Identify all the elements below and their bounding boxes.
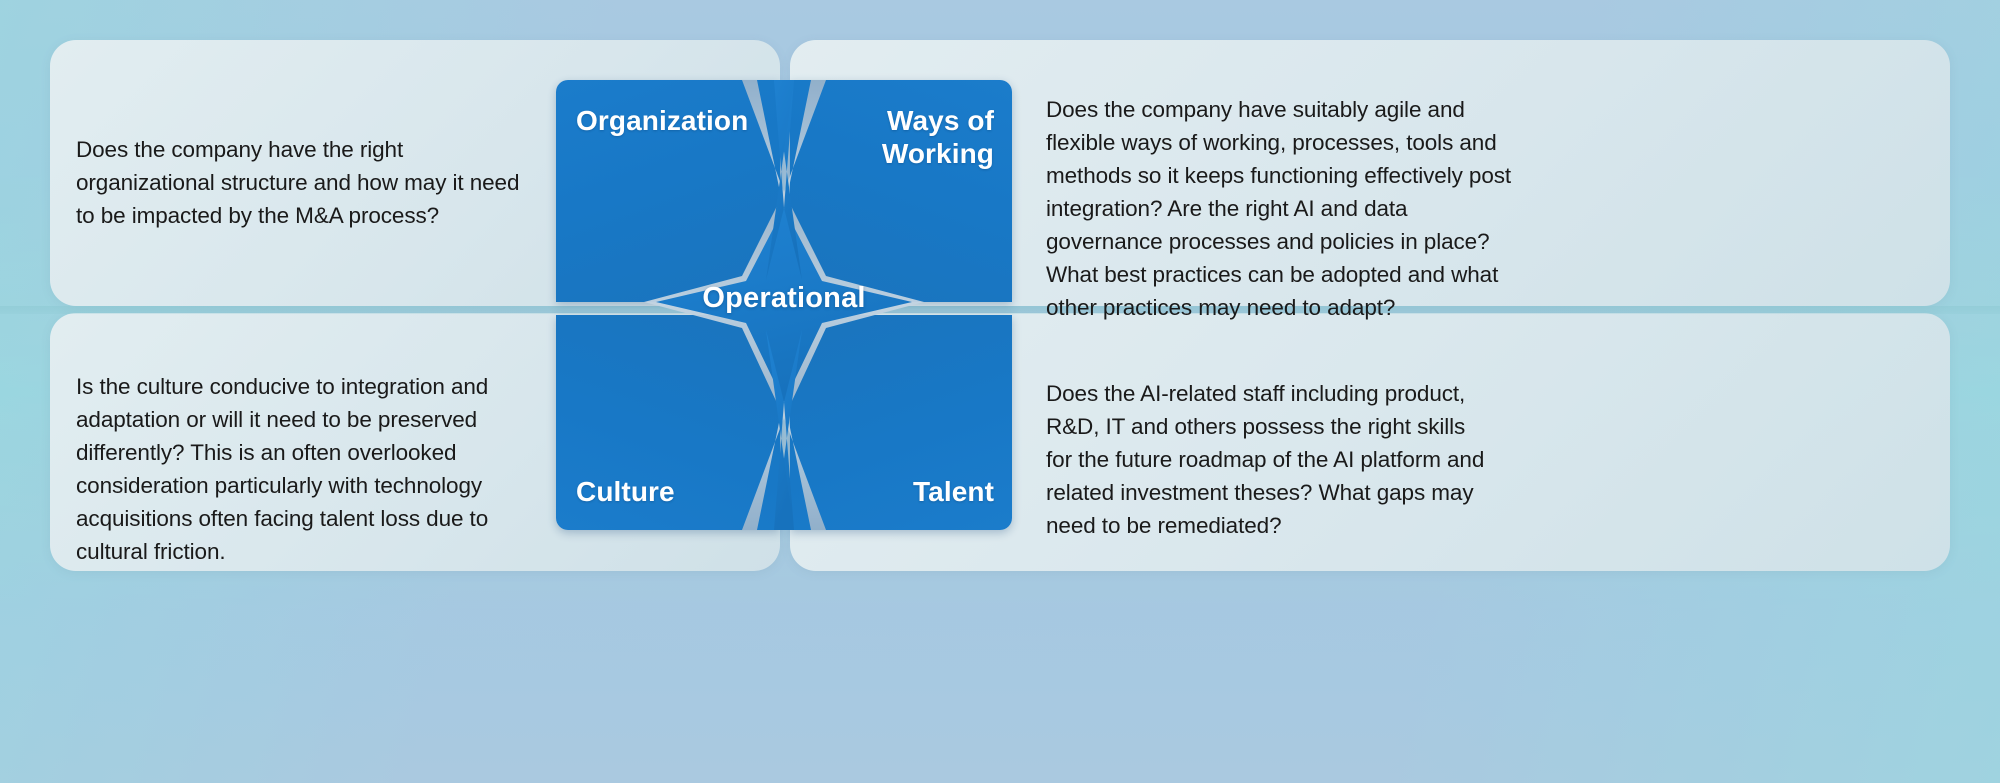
description-organization: Does the company have the right organiza… (76, 133, 538, 232)
tile-label-organization: Organization (576, 104, 748, 137)
tile-ways-of-working[interactable]: Ways of Working (790, 80, 1012, 302)
center-label-operational: Operational (556, 282, 1012, 315)
tile-label-talent: Talent (913, 475, 994, 508)
tile-talent[interactable]: Talent (790, 315, 1012, 530)
tile-culture[interactable]: Culture (556, 315, 780, 530)
description-ways-of-working: Does the company have suitably agile and… (1046, 93, 1516, 324)
description-culture: Is the culture conducive to integration … (76, 370, 538, 568)
tile-label-ways-of-working: Ways of Working (790, 104, 994, 170)
tile-label-culture: Culture (576, 475, 675, 508)
description-talent: Does the AI-related staff including prod… (1046, 377, 1496, 542)
tile-organization[interactable]: Organization (556, 80, 780, 302)
